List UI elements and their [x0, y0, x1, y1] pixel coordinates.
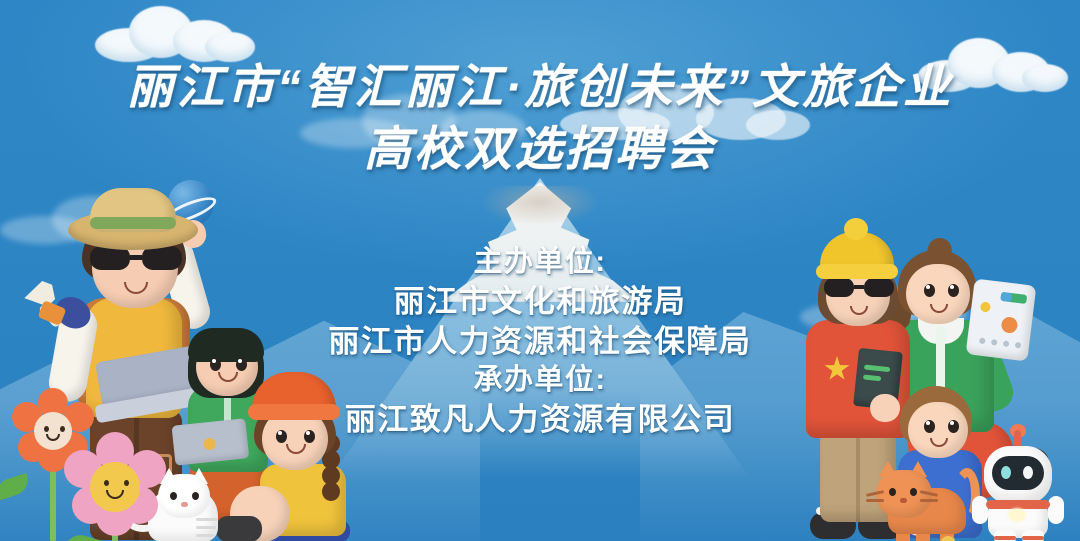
robot-icon — [970, 430, 1066, 541]
red-jacket-hand — [870, 394, 900, 422]
title-line-2: 高校双选招聘会 — [0, 124, 1080, 175]
child-fringe — [188, 328, 264, 362]
pink-flower-icon — [62, 436, 168, 541]
left-character-group — [20, 186, 350, 541]
sunglasses-icon — [824, 278, 894, 297]
poster-canvas: 丽江市“智汇丽江·旅创未来”文旅企业 高校双选招聘会 主办单位: 丽江市文化和旅… — [0, 0, 1080, 541]
green-person-head — [906, 264, 970, 324]
blue-kid-eye-left — [924, 420, 935, 433]
laptop-icon — [168, 418, 253, 478]
green-person-eye-left — [924, 284, 935, 297]
cloud-icon — [95, 2, 255, 62]
poster-title-block: 丽江市“智汇丽江·旅创未来”文旅企业 高校双选招聘会 — [0, 62, 1080, 175]
child-eye-right — [236, 358, 247, 371]
girl-eye-right — [304, 430, 315, 443]
straw-hat-band — [90, 217, 176, 229]
green-person-eye-right — [948, 284, 959, 297]
blue-kid-head — [908, 402, 968, 458]
beanie-pompom — [844, 218, 868, 240]
blue-kid-eye-right — [948, 420, 959, 433]
title-line-1: 丽江市“智汇丽江·旅创未来”文旅企业 — [0, 62, 1080, 113]
beanie-brim — [816, 264, 898, 279]
girl-eye-left — [276, 430, 287, 443]
tablet-icon — [966, 279, 1037, 362]
beanie-brim — [248, 404, 340, 420]
right-character-group — [772, 216, 1072, 541]
mountain-peak-shadow — [480, 186, 600, 226]
child-eye-left — [210, 358, 221, 371]
